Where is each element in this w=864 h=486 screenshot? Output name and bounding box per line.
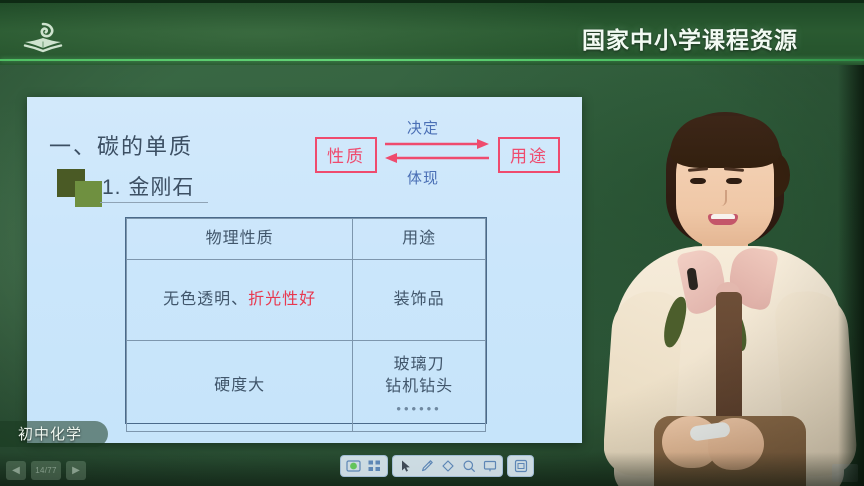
- slide-toolbar[interactable]: [340, 452, 534, 480]
- subject-label: 初中化学: [18, 423, 82, 444]
- presenter-video-figure: [604, 86, 864, 486]
- table-cell-property-2: 硬度大: [127, 341, 353, 432]
- table-row: 无色透明、折光性好 装饰品: [127, 260, 486, 341]
- presenter-necktie: [716, 292, 742, 428]
- use-text-line1: 玻璃刀: [394, 356, 445, 373]
- pen-icon[interactable]: [417, 457, 436, 475]
- diagram-box-property: 性质: [315, 137, 377, 173]
- table-cell-property-1: 无色透明、折光性好: [127, 260, 353, 341]
- use-text-line2: 钻机钻头: [385, 378, 453, 395]
- diagram-label-reflects: 体现: [407, 167, 439, 188]
- presenter-teeth: [711, 214, 735, 219]
- diagram-label-determines: 决定: [407, 117, 439, 138]
- toolbar-group-screen[interactable]: [507, 455, 534, 477]
- slide-heading-section: 一、碳的单质: [49, 129, 193, 161]
- slide-heading-item: 1. 金刚石: [102, 171, 194, 204]
- pointer-icon[interactable]: [396, 457, 415, 475]
- table-row: 硬度大 玻璃刀 钻机钻头 ••••••: [127, 341, 486, 432]
- video-player-stage: 国家中小学课程资源 一、碳的单质 1. 金刚石 性质 用途 决定 体现: [0, 0, 864, 486]
- diagram-arrow-glyphs: [383, 135, 491, 169]
- book-sprout-logo: [18, 21, 68, 57]
- spotlight-icon[interactable]: [480, 457, 499, 475]
- bullet-square-light: [75, 181, 102, 207]
- presenter-eye-right: [726, 178, 742, 184]
- slide-grid-icon[interactable]: [365, 457, 384, 475]
- banner-underline-rule: [0, 59, 864, 61]
- use-text-ellipsis: ••••••: [354, 400, 484, 418]
- property-use-relation-diagram: 性质 用途 决定 体现: [315, 121, 560, 183]
- table-cell-use-2: 玻璃刀 钻机钻头 ••••••: [353, 341, 486, 432]
- eraser-icon[interactable]: [438, 457, 457, 475]
- presenter-eye-left: [690, 178, 706, 184]
- table-header-row: 物理性质 用途: [127, 219, 486, 260]
- slide-heading-item-underline: [100, 202, 208, 203]
- slide-pager[interactable]: ◀ 14/77 ▶: [6, 461, 86, 480]
- toolbar-group-tools[interactable]: [392, 455, 503, 477]
- properties-uses-table: 物理性质 用途 无色透明、折光性好 装饰品 硬度大 玻璃刀 钻机钻头: [125, 217, 487, 424]
- table-cell-use-1: 装饰品: [353, 260, 486, 341]
- property-text-plain-1: 无色透明、: [163, 291, 248, 308]
- table-header-use: 用途: [353, 219, 486, 260]
- page-indicator: 14/77: [31, 461, 61, 480]
- diagram-box-use: 用途: [498, 137, 560, 173]
- site-title: 国家中小学课程资源: [582, 21, 798, 55]
- table-header-property: 物理性质: [127, 219, 353, 260]
- prev-slide-button[interactable]: ◀: [6, 461, 26, 480]
- toolbar-group-view[interactable]: [340, 455, 388, 477]
- presenter-hair-front: [670, 116, 780, 168]
- magnifier-icon[interactable]: [459, 457, 478, 475]
- lesson-slide[interactable]: 一、碳的单质 1. 金刚石 性质 用途 决定 体现: [27, 97, 582, 443]
- fit-screen-icon[interactable]: [511, 457, 530, 475]
- presenter-nose: [717, 190, 727, 206]
- diagram-arrows: 决定 体现: [383, 135, 491, 169]
- presentation-mode-icon[interactable]: [344, 457, 363, 475]
- background-right-shade: [838, 0, 864, 486]
- property-text-highlight-1: 折光性好: [248, 291, 316, 308]
- next-slide-button[interactable]: ▶: [66, 461, 86, 480]
